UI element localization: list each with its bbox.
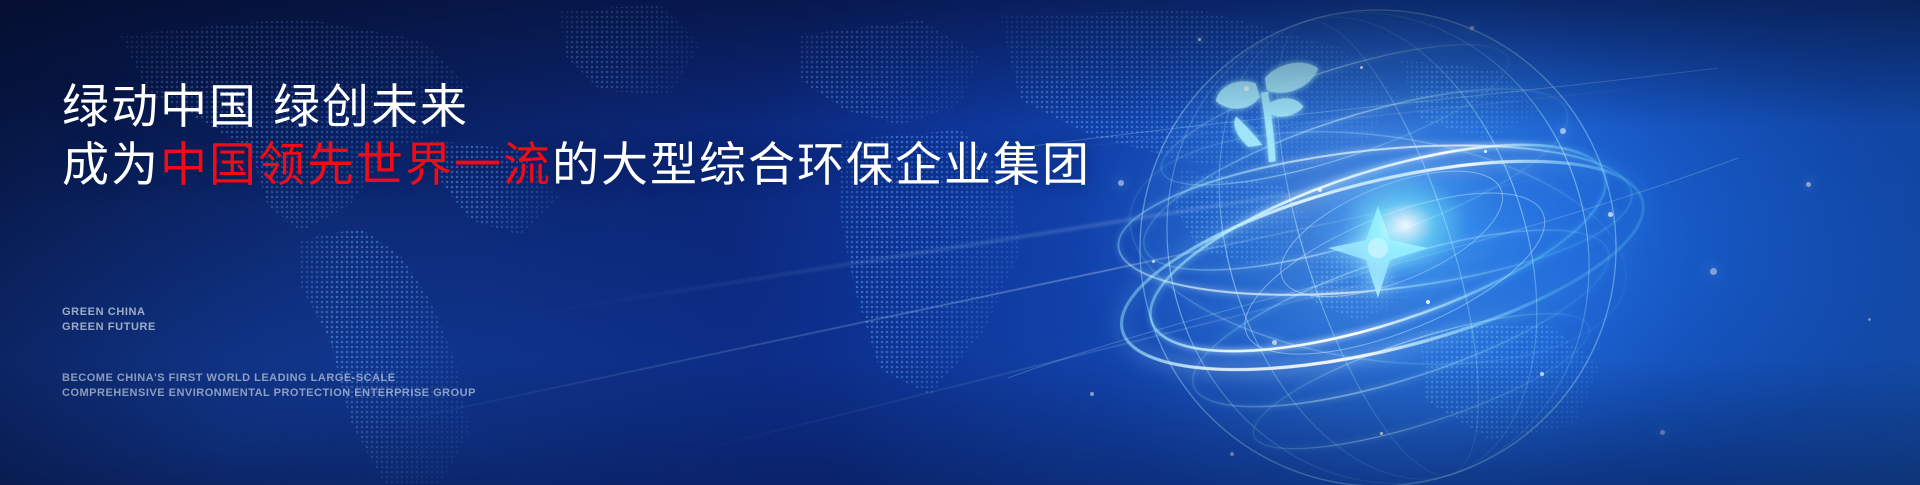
banner-copy: 绿动中国 绿创未来 成为中国领先世界一流的大型综合环保企业集团 GREEN CH… xyxy=(62,0,1062,485)
headline-line2-highlight: 中国领先世界一流 xyxy=(160,138,552,191)
headline-line-1: 绿动中国 绿创未来 xyxy=(62,80,469,133)
headline: 绿动中国 绿创未来 成为中国领先世界一流的大型综合环保企业集团 xyxy=(62,78,1091,194)
tagline-slogan: GREEN CHINA GREEN FUTURE xyxy=(62,305,156,335)
tagline-description-line-1: BECOME CHINA'S FIRST WORLD LEADING LARGE… xyxy=(62,371,476,386)
tagline-slogan-line-1: GREEN CHINA xyxy=(62,305,156,320)
tagline-description: BECOME CHINA'S FIRST WORLD LEADING LARGE… xyxy=(62,371,476,401)
headline-line2-prefix: 成为 xyxy=(62,138,160,191)
hero-banner: 绿动中国 绿创未来 成为中国领先世界一流的大型综合环保企业集团 GREEN CH… xyxy=(0,0,1920,485)
headline-line-2: 成为中国领先世界一流的大型综合环保企业集团 xyxy=(62,136,1091,194)
tagline-description-line-2: COMPREHENSIVE ENVIRONMENTAL PROTECTION E… xyxy=(62,386,476,401)
headline-line2-suffix: 的大型综合环保企业集团 xyxy=(552,138,1091,191)
tagline-slogan-line-2: GREEN FUTURE xyxy=(62,320,156,335)
